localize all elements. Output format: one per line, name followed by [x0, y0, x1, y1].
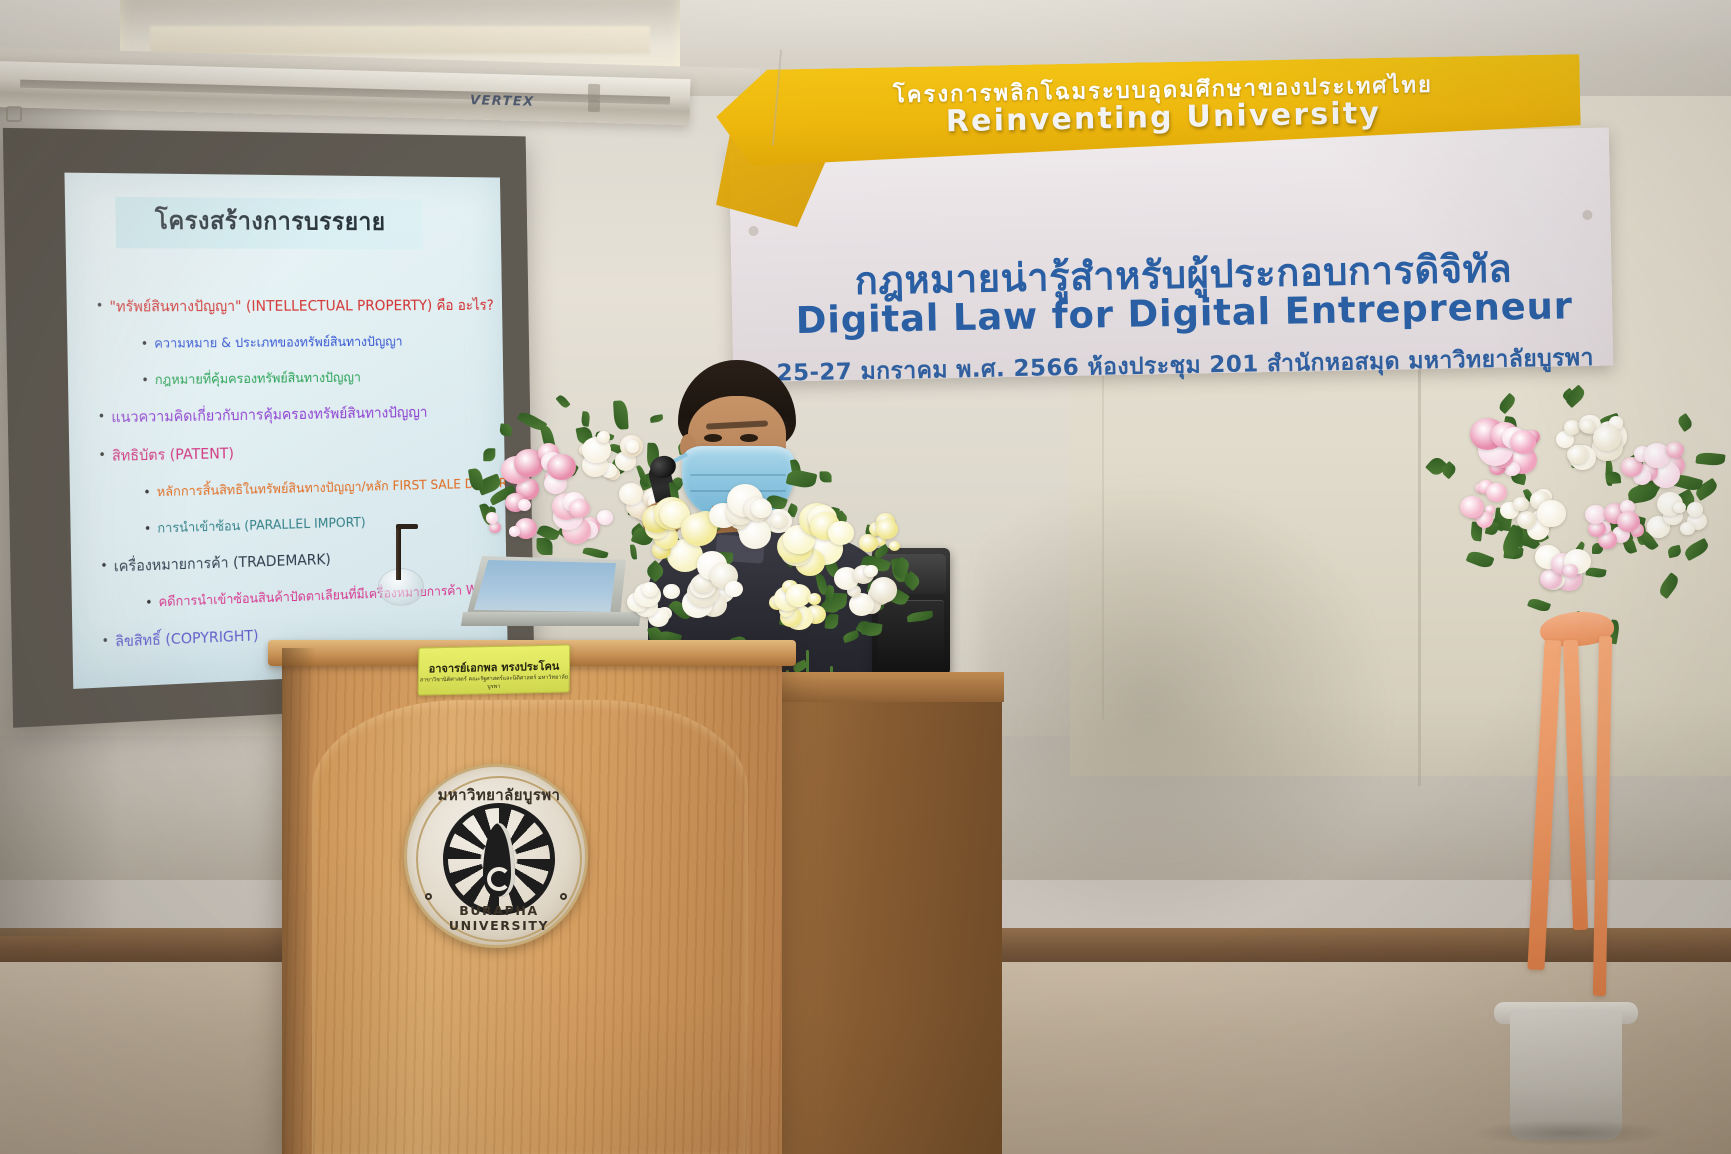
foliage-leaf	[581, 411, 591, 427]
laptop-screen	[474, 560, 616, 612]
foliage-leaf	[786, 468, 818, 490]
wave-swirl-icon	[487, 867, 511, 891]
flower-petal	[518, 499, 531, 511]
foliage-leaf	[483, 448, 495, 461]
projector-vent-icon	[588, 84, 600, 100]
foliage-leaf	[1656, 572, 1681, 599]
foliage-leaf	[861, 621, 882, 637]
flower-petal	[597, 431, 610, 443]
foliage-leaf	[1526, 596, 1550, 613]
flower-petal	[725, 581, 743, 597]
flower-petal	[870, 577, 898, 602]
flower-petal	[771, 513, 787, 527]
slide-bullet-0: "ทรัพย์สินทางปัญญา" (INTELLECTUAL PROPER…	[109, 298, 500, 314]
speaker-eye-left	[704, 434, 722, 442]
projection-screen-surface: โครงสร้างการบรรยาย "ทรัพย์สินทางปัญญา" (…	[64, 173, 507, 689]
microphone-stand-arm	[396, 524, 418, 529]
rail-slot	[20, 80, 670, 105]
flower-petal	[808, 593, 821, 605]
slide-bullet-6: การนำเข้าซ้อน (PARALLEL IMPORT)	[157, 512, 504, 535]
foliage-leaf	[536, 539, 552, 556]
speaker-eye-right	[740, 434, 758, 442]
podium-edge-shadow	[282, 648, 316, 1154]
flower-petal	[1564, 420, 1580, 435]
foliage-leaf	[644, 560, 667, 583]
banner-main-board: กฎหมายน่ารู้สำหรับผู้ประกอบการดิจิทัล Di…	[729, 128, 1613, 383]
slide-bullet-4: สิทธิบัตร (PATENT)	[112, 441, 503, 464]
foliage-leaf	[1465, 548, 1494, 570]
foliage-leaf	[1683, 538, 1711, 561]
seal-dot-left	[425, 893, 432, 900]
flower-petal	[876, 519, 899, 540]
foliage-leaf	[819, 471, 831, 482]
foliage-leaf	[468, 467, 484, 491]
microphone-stand-pole	[396, 526, 401, 580]
foliage-leaf	[1666, 544, 1681, 558]
flower-petal	[569, 499, 590, 519]
projector-vent-icon-2	[588, 100, 600, 112]
foliage-leaf	[1497, 393, 1518, 414]
flower-petal	[859, 534, 879, 552]
foliage-leaf	[824, 613, 838, 629]
flower-petal	[1563, 564, 1579, 578]
rail-bracket	[6, 106, 22, 122]
foliage-leaf	[613, 400, 629, 430]
event-banner: กฎหมายน่ารู้สำหรับผู้ประกอบการดิจิทัล Di…	[715, 39, 1621, 356]
flower-petal	[1680, 522, 1695, 535]
flower-petal	[547, 454, 576, 480]
pedestal-floor-shadow	[1470, 1120, 1670, 1146]
banner-pin-left	[748, 226, 758, 236]
flower-petal	[1537, 500, 1566, 527]
flower-petal	[663, 584, 679, 599]
flower-petal	[828, 521, 854, 545]
slide-bullet-3: แนวความคิดเกี่ยวกับการคุ้มครองทรัพย์สินท…	[111, 404, 502, 425]
foliage-leaf	[906, 611, 933, 623]
foliage-leaf	[1696, 451, 1726, 466]
slide-bullet-1: ความหมาย & ประเภทของทรัพย์สินทางปัญญา	[154, 335, 501, 351]
flower-petal	[642, 582, 658, 597]
foliage-leaf	[499, 423, 512, 436]
seal-text-thai: มหาวิทยาลัยบูรพา	[407, 783, 588, 807]
flower-petal	[1486, 483, 1507, 502]
foliage-leaf	[1676, 413, 1694, 432]
seal-text-english: BURAPHA UNIVERSITY	[407, 903, 588, 933]
flower-petal	[489, 522, 501, 533]
slide-bullet-7: เครื่องหมายการค้า (TRADEMARK)	[114, 547, 505, 575]
nameplate-affiliation: สาขาวิชานิติศาสตร์ คณะรัฐศาสตร์และนิติศา…	[419, 673, 569, 692]
slide-title: โครงสร้างการบรรยาย	[115, 201, 422, 242]
flower-petal	[1673, 502, 1686, 514]
foliage-leaf	[842, 630, 860, 644]
flower-petal	[509, 526, 520, 537]
speaker-nameplate: อาจารย์เอกพล ทรงประโคน สาขาวิชานิติศาสตร…	[418, 644, 571, 695]
flower-petal	[486, 512, 498, 523]
microphone-stand-base	[378, 568, 424, 606]
podium-ledge	[782, 672, 1004, 702]
ceiling-light-glow	[150, 26, 650, 54]
banner-pin-right	[1582, 210, 1592, 220]
seal-dot-right	[560, 893, 567, 900]
foliage-leaf	[1605, 471, 1621, 485]
projector-brand-label: VERTEX	[470, 93, 535, 110]
slide-bullet-2: กฎหมายที่คุ้มครองทรัพย์สินทางปัญญา	[155, 370, 502, 387]
flower-petal	[1513, 497, 1529, 512]
projection-screen: โครงสร้างการบรรยาย "ทรัพย์สินทางปัญญา" (…	[3, 128, 535, 728]
university-seal: มหาวิทยาลัยบูรพา BURAPHA UNIVERSITY	[404, 764, 588, 948]
flower-petal	[786, 584, 811, 607]
flower-petal	[864, 565, 878, 578]
flower-petal	[1580, 419, 1595, 433]
flower-petal	[1567, 445, 1588, 464]
podium-side-panel	[782, 700, 1002, 1154]
flower-petal	[626, 440, 639, 452]
lecture-hall-photo: VERTEX โครงสร้างการบรรยาย "ทรัพย์สินทางป…	[0, 0, 1731, 1154]
flower-petal	[1666, 442, 1683, 458]
wall-shadow	[980, 470, 1400, 940]
slide-bullet-5: หลักการสิ้นสิทธิในทรัพย์สินทางปัญญา/หลัก…	[157, 478, 504, 500]
flower-petal	[889, 541, 900, 552]
flower-petal	[1517, 511, 1536, 529]
